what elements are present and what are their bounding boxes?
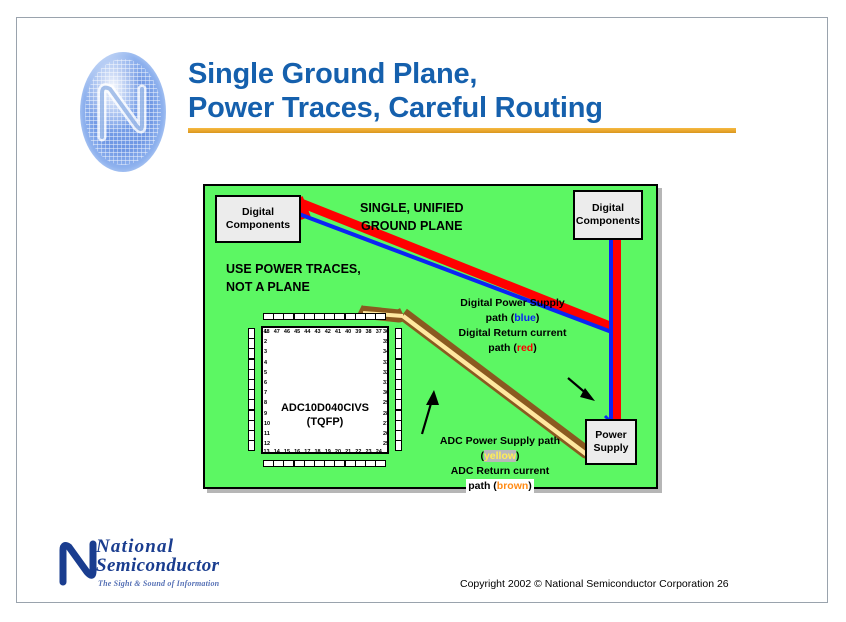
legend-color-yellow: yellow: [484, 450, 516, 462]
ic-pin-top-37: [375, 313, 386, 320]
legend-digital-line-2-post: ): [536, 312, 540, 324]
ic-pin-number-47: 47: [274, 329, 280, 335]
ic-pin-number-7: 7: [264, 390, 267, 396]
label-single-unified-ground-plane: SINGLE, UNIFIED GROUND PLANE: [360, 199, 463, 235]
legend-digital-line-4-pre: path (: [488, 342, 517, 354]
box-power-supply: Power Supply: [585, 419, 637, 465]
footer-tagline: The Sight & Sound of Information: [98, 579, 219, 588]
ic-pin-number-35: 35: [383, 339, 389, 345]
legend-adc-line-1: ADC Power Supply path: [400, 434, 600, 449]
ic-pin-number-1: 1: [264, 329, 267, 335]
ic-pin-number-22: 22: [355, 449, 361, 455]
legend-color-red: red: [517, 342, 533, 354]
ic-pin-number-39: 39: [355, 329, 361, 335]
ic-pin-number-29: 29: [383, 400, 389, 406]
box-power-supply-line-2: Supply: [593, 442, 628, 455]
ic-body: [261, 326, 389, 454]
footer-brand-logo: National Semiconductor The Sight & Sound…: [58, 534, 233, 596]
ic-pin-number-30: 30: [383, 390, 389, 396]
ic-pin-number-32: 32: [383, 370, 389, 376]
title-underline: [188, 128, 736, 133]
ic-pin-number-4: 4: [264, 360, 267, 366]
ic-pin-number-11: 11: [264, 431, 270, 437]
ic-pin-number-20: 20: [335, 449, 341, 455]
legend-adc-line-4-post: ): [528, 480, 532, 492]
slide-canvas: Single Ground Plane, Power Traces, Caref…: [0, 0, 846, 622]
ic-pin-number-36: 36: [383, 329, 389, 335]
ic-package-type: (TQFP): [261, 416, 389, 430]
box-digital-components-right: Digital Components: [573, 190, 643, 240]
ic-pin-number-14: 14: [274, 449, 280, 455]
ic-pin-right-25: [395, 440, 402, 451]
ic-part-label: ADC10D040CIVS (TQFP): [261, 402, 389, 430]
n-mark-icon: [96, 81, 150, 143]
legend-digital-line-4: path (red): [425, 341, 600, 356]
legend-digital-line-4-post: ): [533, 342, 537, 354]
ic-pin-number-43: 43: [315, 329, 321, 335]
ic-pin-number-25: 25: [383, 441, 389, 447]
legend-adc-line-4-pre: path (: [468, 480, 497, 492]
box-digital-right-line-2: Components: [576, 215, 640, 228]
ic-pin-number-34: 34: [383, 349, 389, 355]
legend-digital-line-2-pre: path (: [486, 312, 515, 324]
legend-adc-line-2-post: ): [516, 450, 520, 462]
box-power-supply-line-1: Power: [595, 429, 627, 442]
box-digital-left-line-1: Digital: [242, 206, 274, 219]
ic-pin-number-24: 24: [376, 449, 382, 455]
ic-pin-number-44: 44: [304, 329, 310, 335]
ic-pin-number-33: 33: [383, 360, 389, 366]
page-title: Single Ground Plane, Power Traces, Caref…: [188, 58, 748, 125]
ic-pin-number-38: 38: [366, 329, 372, 335]
ic-pin-number-37: 37: [376, 329, 382, 335]
ic-pin-number-16: 16: [294, 449, 300, 455]
legend-adc-line-4: path (brown): [466, 479, 534, 494]
footer-brand-line-2: Semiconductor: [96, 555, 219, 577]
ic-pin-number-3: 3: [264, 349, 267, 355]
ic-pin-number-42: 42: [325, 329, 331, 335]
ic-pin-number-28: 28: [383, 411, 389, 417]
label-single-unified-line-2: GROUND PLANE: [360, 217, 463, 235]
ic-pin-number-6: 6: [264, 380, 267, 386]
legend-digital-line-3: Digital Return current: [425, 326, 600, 341]
box-digital-left-line-2: Components: [226, 219, 290, 232]
label-use-power-line-2: NOT A PLANE: [226, 278, 361, 296]
legend-adc-line-2: (yellow): [400, 449, 600, 464]
legend-color-brown: brown: [497, 480, 529, 492]
label-use-power-line-1: USE POWER TRACES,: [226, 260, 361, 278]
ic-pin-number-13: 13: [264, 449, 270, 455]
ic-pin-number-15: 15: [284, 449, 290, 455]
ic-pin-number-27: 27: [383, 421, 389, 427]
ic-pin-number-2: 2: [264, 339, 267, 345]
label-single-unified-line-1: SINGLE, UNIFIED: [360, 199, 463, 217]
ic-pin-number-31: 31: [383, 380, 389, 386]
ic-pin-number-26: 26: [383, 431, 389, 437]
ic-package-tqfp: ADC10D040CIVS (TQFP) 4813136471423546153…: [245, 310, 405, 470]
ic-pin-number-19: 19: [325, 449, 331, 455]
footer-n-mark-icon: [58, 540, 98, 586]
ic-pin-left-12: [248, 440, 255, 451]
legend-adc-paths: ADC Power Supply path (yellow) ADC Retur…: [400, 434, 600, 494]
ic-pin-number-23: 23: [366, 449, 372, 455]
legend-digital-paths: Digital Power Supply path (blue) Digital…: [425, 296, 600, 356]
legend-color-blue: blue: [514, 312, 536, 324]
ic-pin-number-41: 41: [335, 329, 341, 335]
legend-digital-line-1: Digital Power Supply: [425, 296, 600, 311]
ic-pin-number-12: 12: [264, 441, 270, 447]
legend-adc-line-3: ADC Return current: [400, 464, 600, 479]
ic-pin-number-10: 10: [264, 421, 270, 427]
ic-pin-number-8: 8: [264, 400, 267, 406]
legend-digital-line-2: path (blue): [425, 311, 600, 326]
ic-pin-number-18: 18: [315, 449, 321, 455]
label-use-power-traces: USE POWER TRACES, NOT A PLANE: [226, 260, 361, 296]
box-digital-components-left: Digital Components: [215, 195, 301, 243]
box-digital-right-line-1: Digital: [592, 202, 624, 215]
ic-pin-number-45: 45: [294, 329, 300, 335]
ic-pin-number-17: 17: [304, 449, 310, 455]
copyright-notice: Copyright 2002 © National Semiconductor …: [460, 578, 729, 590]
ic-pin-bottom-24: [375, 460, 386, 467]
title-line-2: Power Traces, Careful Routing: [188, 92, 748, 126]
ic-pin-number-40: 40: [345, 329, 351, 335]
title-line-1: Single Ground Plane,: [188, 58, 748, 92]
ic-pin-number-46: 46: [284, 329, 290, 335]
national-semiconductor-sphere-logo: [80, 52, 166, 172]
ic-pin-number-9: 9: [264, 411, 267, 417]
ic-part-number: ADC10D040CIVS: [261, 402, 389, 416]
ic-pin-number-21: 21: [345, 449, 351, 455]
ic-pin-number-5: 5: [264, 370, 267, 376]
